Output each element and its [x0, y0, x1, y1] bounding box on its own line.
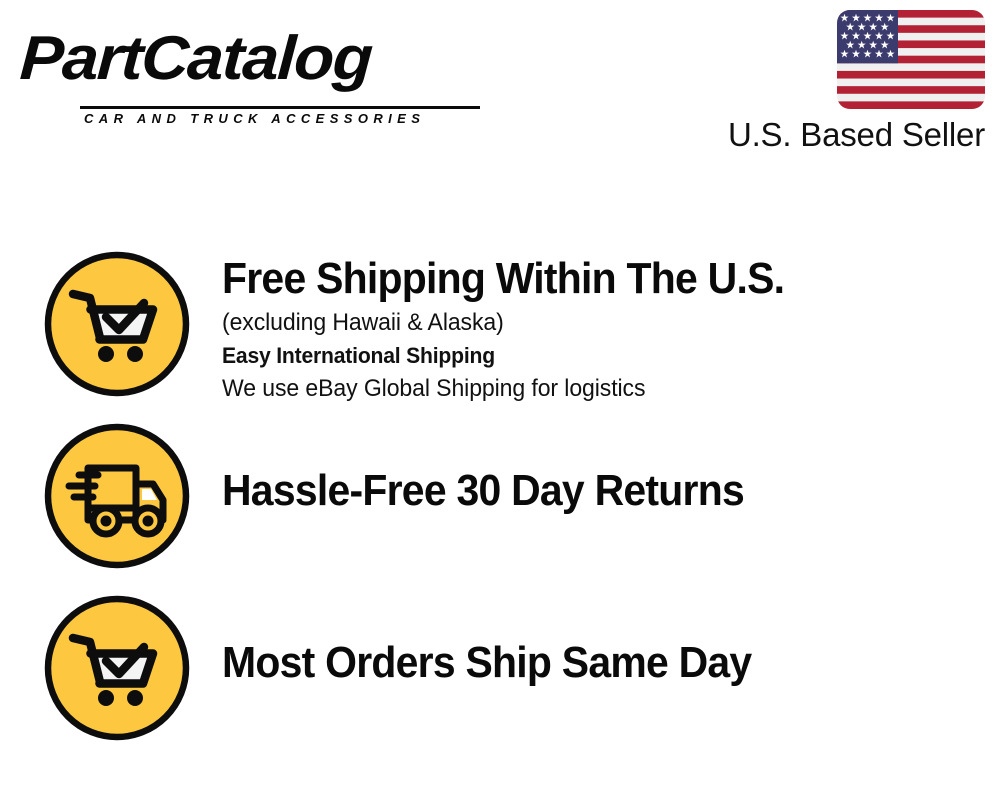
feature-title: Most Orders Ship Same Day: [222, 636, 929, 690]
feature-subtext: Easy International Shipping: [222, 340, 952, 372]
brand-logo: PartCatalog CAR AND TRUCK ACCESSORIES: [22, 24, 492, 116]
feature-row: Free Shipping Within The U.S. (excluding…: [0, 248, 1000, 420]
feature-text-block: Hassle-Free 30 Day Returns: [222, 464, 982, 518]
brand-underline-rule: [80, 106, 480, 109]
feature-subtext: We use eBay Global Shipping for logistic…: [222, 372, 952, 406]
feature-text-block: Free Shipping Within The U.S. (excluding…: [222, 252, 982, 406]
shopping-cart-check-icon: [43, 250, 191, 398]
feature-subtext: (excluding Hawaii & Alaska): [222, 306, 952, 340]
brand-wordmark: PartCatalog: [18, 24, 373, 94]
delivery-truck-icon: [43, 422, 191, 570]
promo-banner: PartCatalog CAR AND TRUCK ACCESSORIES: [0, 0, 1000, 800]
us-flag-icon: [837, 10, 985, 109]
feature-title: Hassle-Free 30 Day Returns: [222, 464, 929, 518]
feature-title: Free Shipping Within The U.S.: [222, 252, 929, 306]
feature-row: Most Orders Ship Same Day: [0, 592, 1000, 764]
shopping-cart-check-icon: [43, 594, 191, 742]
brand-tagline: CAR AND TRUCK ACCESSORIES: [84, 110, 425, 128]
feature-text-block: Most Orders Ship Same Day: [222, 636, 982, 690]
feature-row: Hassle-Free 30 Day Returns: [0, 420, 1000, 592]
us-based-seller-label: U.S. Based Seller: [728, 114, 985, 156]
feature-list: Free Shipping Within The U.S. (excluding…: [0, 248, 1000, 764]
